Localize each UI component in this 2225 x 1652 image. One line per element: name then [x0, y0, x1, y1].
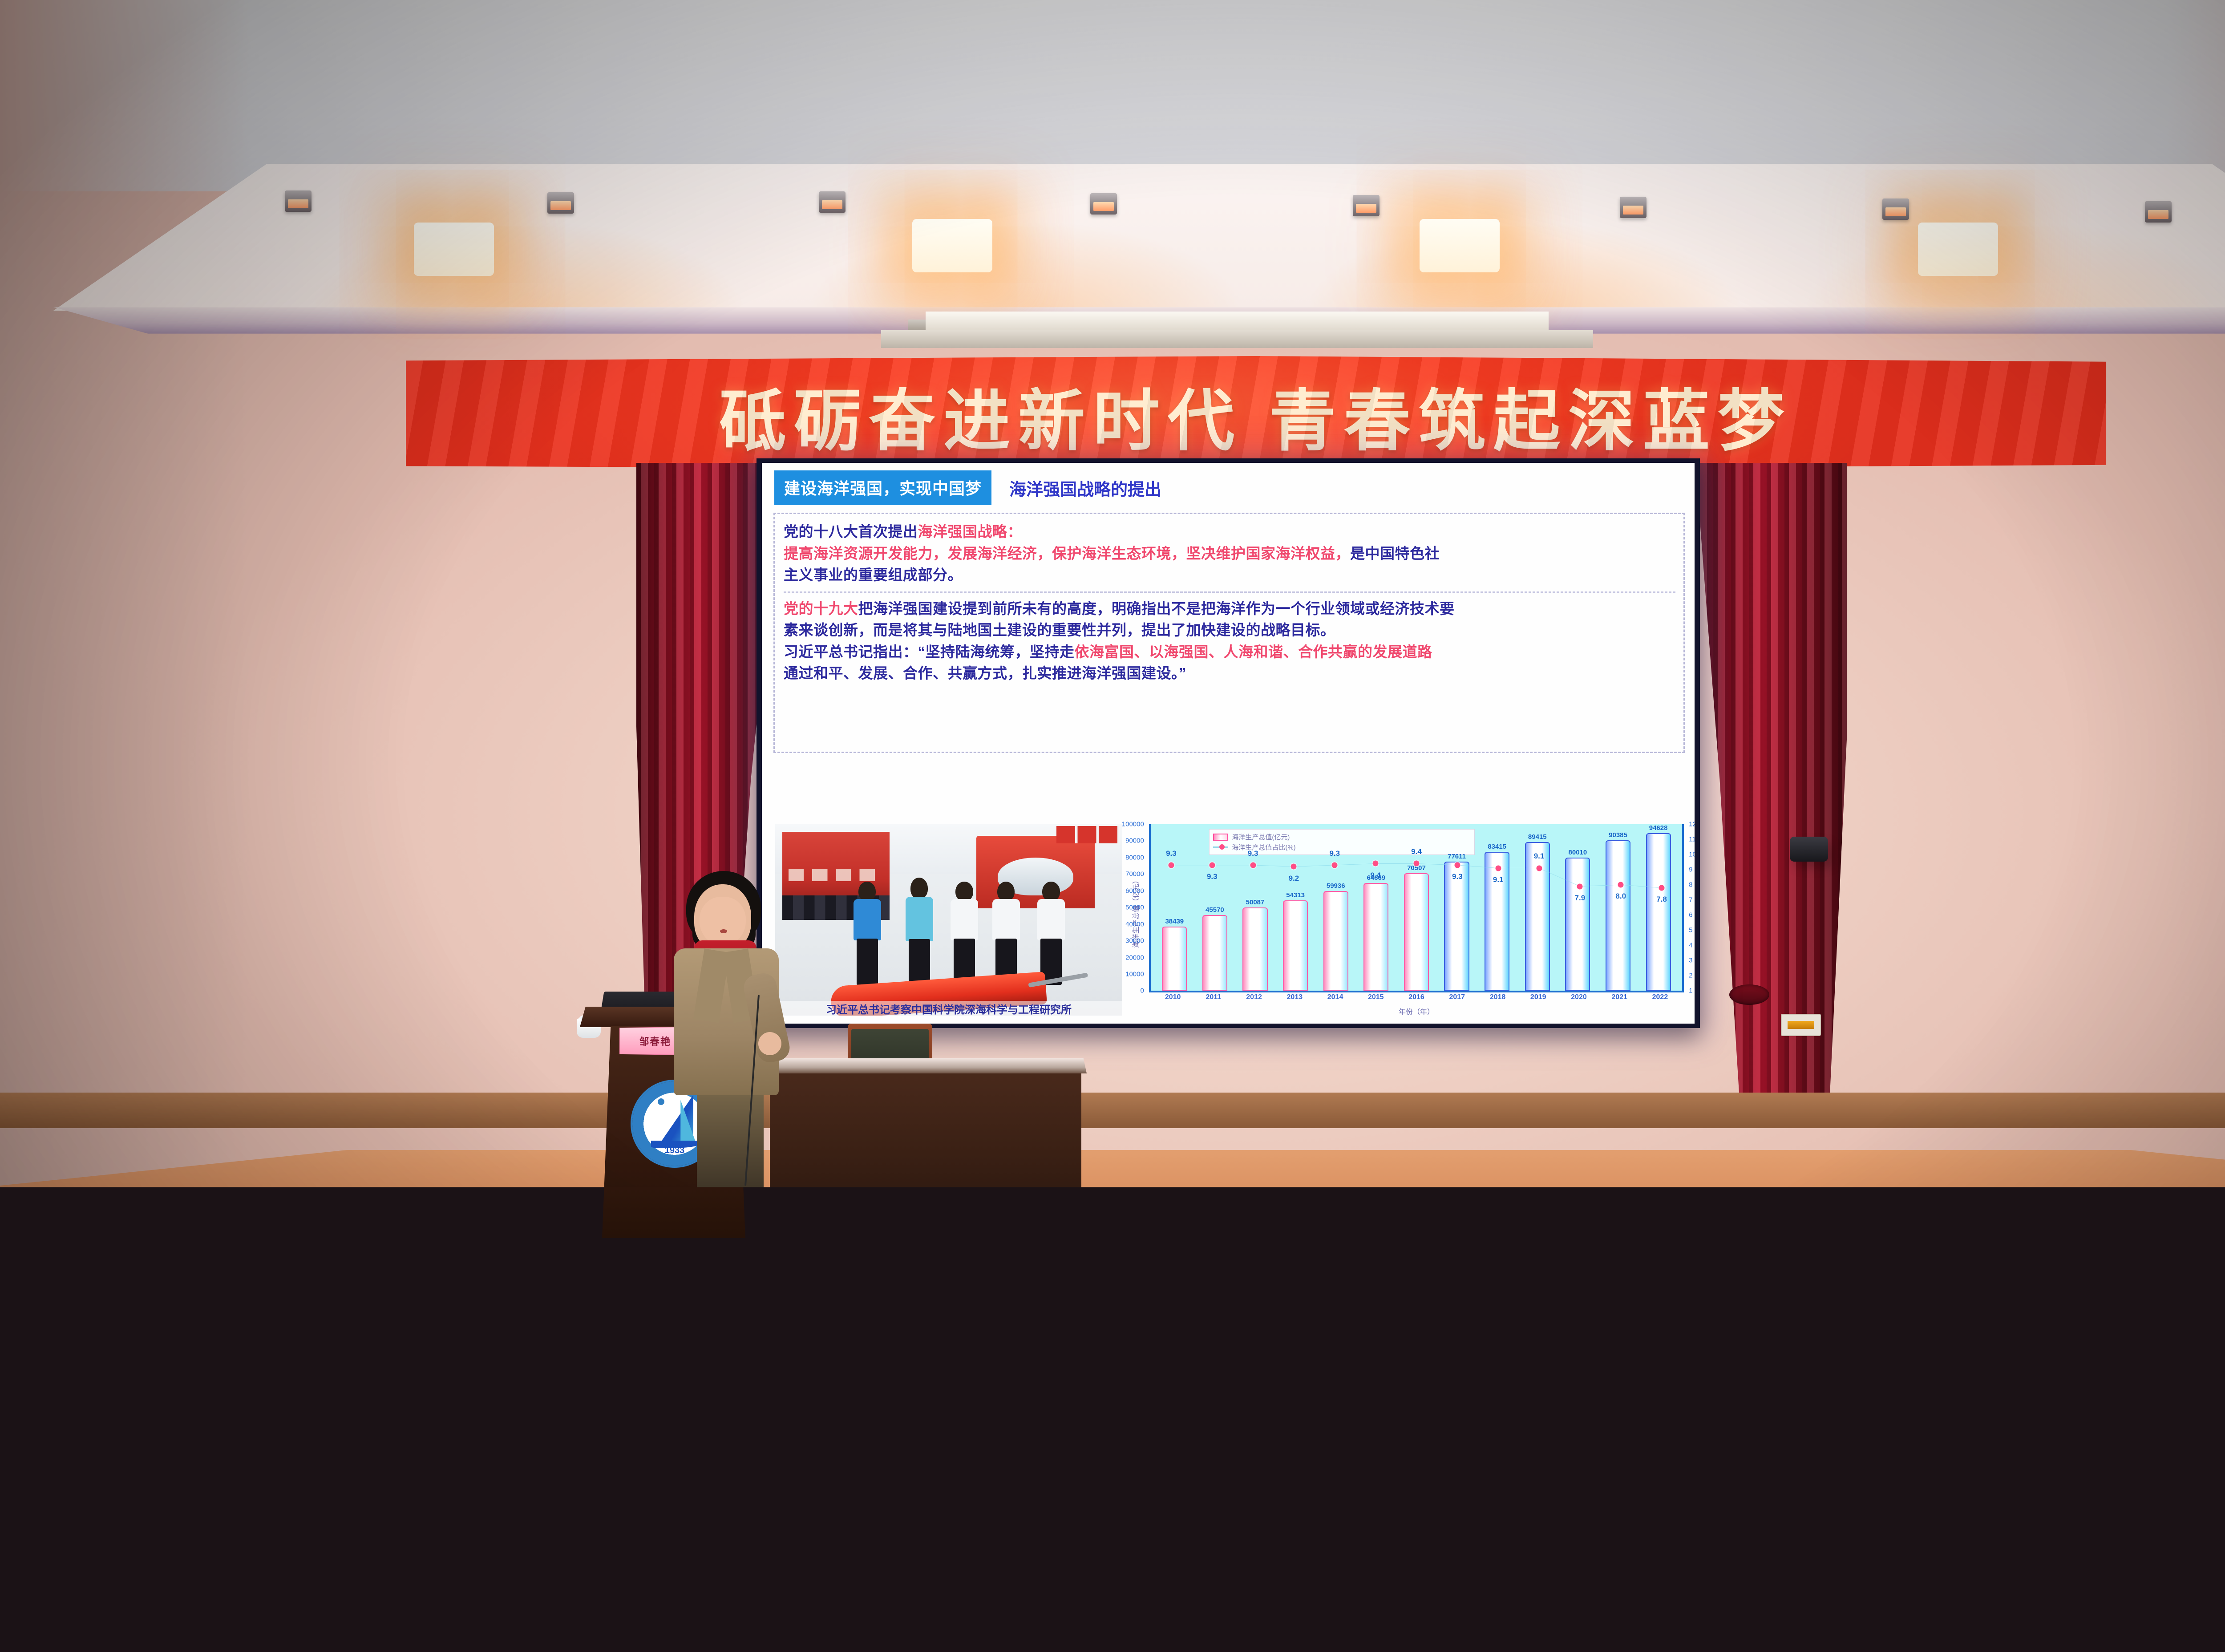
audience-member: [2094, 1304, 2135, 1373]
chart-bar-column: 80010: [1557, 824, 1598, 991]
audience-member: [1908, 1352, 1954, 1430]
audience-head: [396, 1547, 463, 1622]
audience-member: [348, 1304, 389, 1373]
audience-head: [2094, 1304, 2135, 1350]
slide-divider: [784, 591, 1675, 593]
audience-head: [1212, 1547, 1278, 1622]
audience-head: [1562, 1474, 1621, 1539]
slide-paragraph-3: 主义事业的重要组成部分。: [784, 564, 1675, 586]
audience-head: [696, 1227, 729, 1264]
chart-y2-tick: 7: [1689, 896, 1692, 904]
audience-head: [1217, 1352, 1263, 1404]
audience-head: [2197, 1198, 2225, 1231]
chart-bar-value-label: 90385: [1609, 831, 1627, 839]
chart-bar: [1606, 840, 1630, 991]
audience-member: [1709, 1198, 1738, 1247]
audience-member: [309, 1262, 346, 1324]
audience-head: [1983, 1408, 2035, 1467]
audience-member: [2061, 1227, 2094, 1282]
chart-bar-column: 59936: [1315, 824, 1356, 991]
chart-y2-tick: 11: [1689, 836, 1695, 843]
audience-member: [515, 1474, 574, 1572]
slide-paragraph-4: 党的十九大把海洋强国建设提到前所未有的高度，明确指出不是把海洋作为一个行业领域或…: [784, 598, 1675, 620]
audience-head: [1968, 1304, 2009, 1350]
projection-screen: 建设海洋强国，实现中国梦 海洋强国战略的提出 党的十八大首次提出海洋强国战略： …: [756, 458, 1700, 1028]
chart-bar-value-label: 54313: [1286, 891, 1305, 899]
chart-x-tick: 2013: [1274, 993, 1315, 1007]
audience-head: [1791, 1262, 1827, 1303]
slide-title-chip: 建设海洋强国，实现中国梦: [774, 470, 991, 505]
audience-member: [2181, 1352, 2225, 1430]
audience-head: [2013, 1547, 2079, 1622]
audience-head: [943, 1352, 990, 1404]
audience-member: [1983, 1408, 2035, 1496]
audience-head: [1718, 1304, 1759, 1350]
audience-head: [1833, 1408, 1886, 1467]
audience-member: [1605, 1547, 1672, 1652]
ceiling-upper-plane: [0, 0, 2225, 191]
audience-head: [437, 1408, 489, 1467]
audience-member: [597, 1408, 650, 1496]
audience-head: [1806, 1198, 1836, 1231]
audience-member: [1611, 1198, 1641, 1247]
audience-head: [425, 1262, 462, 1303]
chart-y-tick: 20000: [1125, 954, 1144, 961]
chart-y-tick: 100000: [1122, 821, 1144, 828]
audience-head: [600, 1547, 667, 1622]
audience-member: [767, 1262, 803, 1324]
ceiling-light-2: [912, 219, 992, 272]
audience-head: [1449, 1262, 1486, 1303]
audience-member: [139, 1408, 191, 1496]
chart-bar: [1323, 891, 1348, 991]
chart-bar-value-label: 45570: [1206, 906, 1224, 914]
audience-head: [1205, 1474, 1264, 1539]
audience-head: [309, 1262, 346, 1303]
audience-seat: [0, 1593, 127, 1652]
audience-head: [967, 1304, 1007, 1350]
chart-y-tick: 40000: [1125, 920, 1144, 928]
chart-bar: [1646, 833, 1671, 991]
chart-bar-column: 83415: [1477, 824, 1517, 991]
audience-head: [841, 1304, 882, 1350]
audience-head: [1675, 1262, 1711, 1303]
slide-p1-blue: 党的十八大首次提出: [784, 523, 918, 540]
audience-head: [193, 1547, 259, 1622]
audience-member: [1763, 1352, 1809, 1430]
audience-member: [2217, 1547, 2225, 1652]
audience-head: [1638, 1227, 1671, 1264]
audience-head: [681, 1474, 740, 1539]
chart-bar: [1565, 858, 1590, 991]
audience-head: [1709, 1198, 1738, 1231]
audience-member: [1959, 1227, 1992, 1282]
audience-head: [1433, 1227, 1466, 1264]
audience-member: [798, 1352, 844, 1430]
audience-member: [2016, 1262, 2052, 1324]
chart-y-tick: 10000: [1125, 970, 1144, 978]
audience-head: [746, 1408, 799, 1467]
audience-member: [425, 1262, 462, 1324]
chart-y2-tick: 10: [1689, 851, 1695, 858]
chart-y-tick: 0: [1141, 987, 1144, 995]
audience-member: [2099, 1198, 2128, 1247]
audience-head: [2002, 1198, 2031, 1231]
audience-seat: [1620, 1445, 1780, 1526]
audience-head: [2061, 1227, 2094, 1264]
audience-head: [2099, 1198, 2128, 1231]
presenter-hand: [758, 1032, 781, 1055]
audience-head: [280, 1227, 313, 1264]
audience-head: [1364, 1408, 1417, 1467]
audience-member: [2086, 1474, 2145, 1572]
audience-member: [681, 1474, 740, 1572]
audience-member: [696, 1227, 729, 1282]
audience-member: [2045, 1352, 2091, 1430]
chart-bar: [1404, 873, 1429, 991]
chart-y2-tick: 1: [1689, 987, 1692, 995]
chart-bar-value-label: 38439: [1165, 918, 1184, 925]
photo-person-3: [949, 882, 980, 985]
audience-member: [1833, 1408, 1886, 1496]
slide-p2-red: 提高海洋资源开发能力，发展海洋经济，保护海洋生态环境，坚决维护国家海洋权益，: [784, 545, 1350, 562]
chart-y2-tick: 12: [1689, 821, 1695, 828]
audience-head: [2164, 1227, 2197, 1264]
audience-head: [336, 1474, 395, 1539]
slide-media-row: 习近平总书记考察中国科学院深海科学与工程研究所 海洋生产总值（亿元） 占比(%)…: [775, 824, 1684, 1016]
audience-seating: 21715: [0, 1175, 2225, 1652]
chart-x-tick: 2010: [1153, 993, 1193, 1007]
audience-head: [934, 1198, 964, 1231]
audience-member: [544, 1198, 574, 1247]
audience-member: [1212, 1547, 1278, 1652]
audience-member: [1718, 1304, 1759, 1373]
raised-arm-2: [187, 1219, 205, 1286]
chart-y2-tick: 4: [1689, 942, 1692, 949]
audience-member: [805, 1227, 838, 1282]
audience-member: [252, 1198, 281, 1247]
chart-y-tick: 90000: [1125, 837, 1144, 845]
slide-header: 建设海洋强国，实现中国梦 海洋强国战略的提出: [774, 469, 1686, 506]
audience-head: [1319, 1198, 1348, 1231]
audience-head: [591, 1304, 632, 1350]
audience-head: [84, 1262, 121, 1303]
audience-head: [2086, 1474, 2145, 1539]
audience-head: [1056, 1408, 1108, 1467]
chart-y-tick: 50000: [1125, 904, 1144, 911]
audience-member: [280, 1227, 313, 1282]
audience-member: [2013, 1547, 2079, 1652]
audience-head: [515, 1474, 574, 1539]
audience-head: [1908, 1352, 1954, 1404]
audience-head: [716, 1304, 757, 1350]
photo-person-4: [991, 882, 1022, 985]
chart-bar: [1525, 842, 1550, 991]
audience-member: [2164, 1227, 2197, 1282]
ceiling-light-3: [1420, 219, 1500, 272]
audience-head: [1611, 1198, 1641, 1231]
presentation-slide: 建设海洋强国，实现中国梦 海洋强国战略的提出 党的十八大首次提出海洋强国战略： …: [762, 463, 1695, 1024]
chart-bar: [1242, 907, 1267, 991]
auditorium-scene: 砥砺奋进新时代 青春筑起深蓝梦 建设海洋强国，实现中国梦 海洋强国战略的提出 党…: [0, 0, 2225, 1652]
audience-head: [805, 1227, 838, 1264]
chart-bar-value-label: 83415: [1488, 843, 1506, 850]
chart-xlabel: 年份（年）: [1149, 1006, 1684, 1016]
audience-head: [1416, 1198, 1446, 1231]
photo-person-5: [1036, 882, 1067, 985]
chart-bar-column: 54313: [1275, 824, 1316, 991]
ceiling-light-4: [1918, 223, 1998, 276]
audience-member: [1904, 1198, 1934, 1247]
audience-member: [740, 1198, 769, 1247]
presenter-face: [700, 897, 746, 946]
audience-head: [1342, 1304, 1383, 1350]
ceiling-spotlight-1: [285, 190, 311, 212]
audience-head: [1119, 1227, 1152, 1264]
chart-y-tick: 30000: [1125, 937, 1144, 945]
audience-member: [1675, 1262, 1711, 1324]
audience-member: [2197, 1198, 2225, 1247]
banner-mount-upper: [926, 312, 1549, 332]
chart-y-tick: 70000: [1125, 871, 1144, 878]
audience-head: [383, 1227, 416, 1264]
audience-member: [336, 1474, 395, 1572]
chart-bar-column: 90385: [1598, 824, 1638, 991]
audience-head: [992, 1262, 1028, 1303]
chart-y-tick: 60000: [1125, 887, 1144, 895]
slide-photo-xi-inspection: 习近平总书记考察中国科学院深海科学与工程研究所: [775, 824, 1122, 1016]
chart-bar: [1202, 915, 1227, 991]
audience-head: [798, 1352, 844, 1404]
audience-head: [1353, 1352, 1400, 1404]
chart-x-tick: 2022: [1640, 993, 1680, 1007]
chart-bar-value-label: 89415: [1528, 833, 1547, 841]
audience-head: [767, 1262, 803, 1303]
audience-member: [1748, 1227, 1780, 1282]
chart-bar-value-label: 64669: [1367, 874, 1385, 882]
audience-head: [139, 1408, 191, 1467]
raised-arm: [138, 1219, 156, 1286]
slide-body-box: 党的十八大首次提出海洋强国战略： 提高海洋资源开发能力，发展海洋经济，保护海洋生…: [773, 513, 1685, 753]
curtain-tieback-right: [1729, 984, 1769, 1005]
audience-head: [2132, 1262, 2168, 1303]
audience-head: [525, 1352, 571, 1404]
chart-x-tick: 2011: [1193, 993, 1234, 1007]
audience-head: [1525, 1408, 1577, 1467]
chart-bar-value-label: 50087: [1246, 899, 1265, 906]
audience-member: [1401, 1547, 1468, 1652]
slide-subtitle: 海洋强国战略的提出: [1009, 476, 1161, 500]
audience-head: [1215, 1408, 1268, 1467]
chart-bar-column: 38439: [1154, 824, 1195, 991]
audience-head: [1850, 1227, 1883, 1264]
chart-bars: 3843945570500875431359936646697050777611…: [1151, 824, 1682, 991]
audience-member: [491, 1227, 524, 1282]
chart-x-tick: 2020: [1558, 993, 1599, 1007]
wall-speaker-right: [1790, 837, 1828, 862]
chart-bar-value-label: 77611: [1448, 853, 1466, 860]
audience-head: [837, 1198, 866, 1231]
chart-y2-tick: 6: [1689, 911, 1692, 919]
chart-x-tick: 2015: [1355, 993, 1396, 1007]
chart-y-tick: 80000: [1125, 854, 1144, 861]
slide-paragraph-1: 党的十八大首次提出海洋强国战略：: [784, 521, 1675, 543]
ceiling-soffit-glow: [53, 164, 2225, 315]
chart-y2-tick: 9: [1689, 866, 1692, 874]
audience-head: [651, 1262, 687, 1303]
slide-p2-blue: 是中国特色社: [1350, 545, 1440, 562]
chart-bar-column: 77611: [1436, 824, 1477, 991]
slide-p6-red: 依海富国、以海强国、人海和谐、合作共赢的发展道路: [1075, 644, 1432, 660]
audience-member: [447, 1198, 476, 1247]
banner-mount-lower: [881, 330, 1593, 348]
audience-member: [396, 1547, 463, 1652]
audience-head: [1080, 1352, 1126, 1404]
chart-y2-tick: 8: [1689, 881, 1692, 889]
stage-table-top: [765, 1058, 1087, 1073]
ceiling-light-1: [414, 223, 494, 276]
audience-head: [98, 1304, 139, 1350]
presenter-mouth: [720, 929, 728, 934]
audience-member: [746, 1408, 799, 1496]
audience-member: [2002, 1198, 2031, 1247]
audience-member: [349, 1198, 379, 1247]
audience-head: [348, 1304, 389, 1350]
slide-p4-blue: 把海洋强国建设提到前所未有的高度，明确指出不是把海洋作为一个行业领域或经济技术要: [858, 600, 1455, 617]
chart-bar-value-label: 70507: [1407, 864, 1426, 872]
audience-head: [2181, 1352, 2225, 1404]
audience-head: [2132, 1408, 2185, 1467]
ceiling-spotlight-5: [1353, 195, 1379, 216]
audience-head: [906, 1408, 959, 1467]
audience-head: [1468, 1304, 1509, 1350]
chart-bar: [1485, 852, 1509, 991]
audience-head: [1333, 1262, 1370, 1303]
audience-head: [1904, 1198, 1934, 1231]
audience-member: [1843, 1304, 1884, 1373]
audience-member: [1907, 1262, 1943, 1324]
chart-bar-value-label: 59936: [1327, 882, 1345, 890]
ceiling-spotlight-3: [819, 191, 845, 213]
ceiling-spotlight-2: [547, 192, 574, 214]
audience-head: [804, 1547, 871, 1622]
audience-head: [1217, 1304, 1258, 1350]
audience-member: [804, 1547, 871, 1652]
chart-x-tick: 2019: [1518, 993, 1558, 1007]
audience-head: [1092, 1304, 1133, 1350]
audience-head: [1748, 1227, 1780, 1264]
ceiling-spotlight-4: [1090, 193, 1117, 215]
audience-member: [600, 1547, 667, 1652]
audience-head: [1843, 1304, 1884, 1350]
audience-head: [1907, 1262, 1943, 1303]
slide-p4-red: 党的十九大: [784, 600, 858, 617]
audience-head: [661, 1352, 708, 1404]
chart-bar: [1283, 900, 1308, 991]
chart-y2-tick: 5: [1689, 927, 1692, 934]
audience-head: [908, 1227, 941, 1264]
slide-p1-red: 海洋强国战略：: [918, 523, 1023, 540]
chart-y2-tick: 2: [1689, 972, 1692, 980]
slide-paragraph-6: 习近平总书记指出：“坚持陆海统筹，坚持走依海富国、以海强国、人海和谐、合作共赢的…: [784, 641, 1675, 663]
slide-paragraph-2: 提高海洋资源开发能力，发展海洋经济，保护海洋生态环境，坚决维护国家海洋权益，是中…: [784, 543, 1675, 565]
audience-seat: [1667, 1514, 1849, 1606]
chart-bar-column: 50087: [1235, 824, 1275, 991]
audience-member: [0, 1474, 50, 1572]
slide-chart: 海洋生产总值（亿元） 占比(%) 海洋生产总值(亿元) 海洋生产总值占比(%): [1149, 824, 1684, 1016]
audience-head: [69, 1227, 101, 1264]
ceiling-spotlight-8: [2145, 201, 2172, 223]
chart-x-tick: 2012: [1234, 993, 1274, 1007]
audience-member: [1806, 1198, 1836, 1247]
audience-member: [1968, 1304, 2009, 1373]
audience-member: [908, 1227, 941, 1282]
audience-head: [1011, 1227, 1044, 1264]
audience-member: [841, 1304, 882, 1373]
chart-x-tick: 2016: [1396, 993, 1436, 1007]
seat-number: 2: [293, 1628, 302, 1649]
audience-head: [860, 1474, 919, 1539]
stage-wainscot: [0, 1093, 2225, 1128]
audience-head: [1907, 1474, 1966, 1539]
audience-member: [525, 1352, 571, 1430]
chart-bar-column: 89415: [1517, 824, 1557, 991]
slide-photo-caption: 习近平总书记考察中国科学院深海科学与工程研究所: [775, 1001, 1122, 1016]
chart-bar-column: 45570: [1195, 824, 1235, 991]
chart-bar-column: 70507: [1396, 824, 1437, 991]
audience-head: [2016, 1262, 2052, 1303]
audience-head: [57, 1198, 86, 1231]
audience-member: [437, 1408, 489, 1496]
chart-bar-value-label: 94628: [1649, 824, 1668, 832]
audience-member: [2132, 1262, 2168, 1324]
chart-bar: [1444, 862, 1469, 991]
audience-head: [115, 1352, 162, 1404]
ceiling-spotlight-7: [1882, 198, 1909, 220]
photo-person-1: [852, 882, 883, 985]
audience-head: [1039, 1474, 1097, 1539]
chart-bar: [1363, 883, 1388, 991]
audience-head: [491, 1227, 524, 1264]
wall-left-shadow: [0, 0, 249, 1228]
chart-x-tick: 2014: [1315, 993, 1355, 1007]
audience-member: [383, 1227, 416, 1282]
slide-paragraph-7: 通过和平、发展、合作、共赢方式，扎实推进海洋强国建设。”: [784, 663, 1675, 684]
audience-member: [837, 1198, 866, 1247]
audience-head: [597, 1408, 650, 1467]
chart-bar-column: 94628: [1638, 824, 1679, 991]
chart-x-tick: 2018: [1477, 993, 1518, 1007]
audience-seat: [1738, 1593, 1947, 1652]
chart-bar-value-label: 80010: [1569, 849, 1587, 856]
chart-x-tick: 2017: [1437, 993, 1477, 1007]
audience-member: [591, 1304, 632, 1373]
audience-member: [252, 1352, 298, 1430]
audience-head: [447, 1198, 476, 1231]
audience-head: [1008, 1547, 1075, 1622]
chart-plot-area: 海洋生产总值(亿元) 海洋生产总值占比(%) 38439455705008754…: [1149, 824, 1684, 992]
event-banner: 砥砺奋进新时代 青春筑起深蓝梦: [406, 356, 2106, 470]
audience-head: [1032, 1198, 1061, 1231]
chart-bar: [1162, 927, 1187, 991]
chart-bar-column: 64669: [1356, 824, 1396, 991]
smartphone[interactable]: [147, 1196, 190, 1221]
audience-member: [1907, 1474, 1966, 1572]
audience-head: [1222, 1198, 1251, 1231]
audience-head: [740, 1198, 769, 1231]
emblem-dot: [658, 1098, 664, 1105]
audience-member: [193, 1547, 259, 1652]
